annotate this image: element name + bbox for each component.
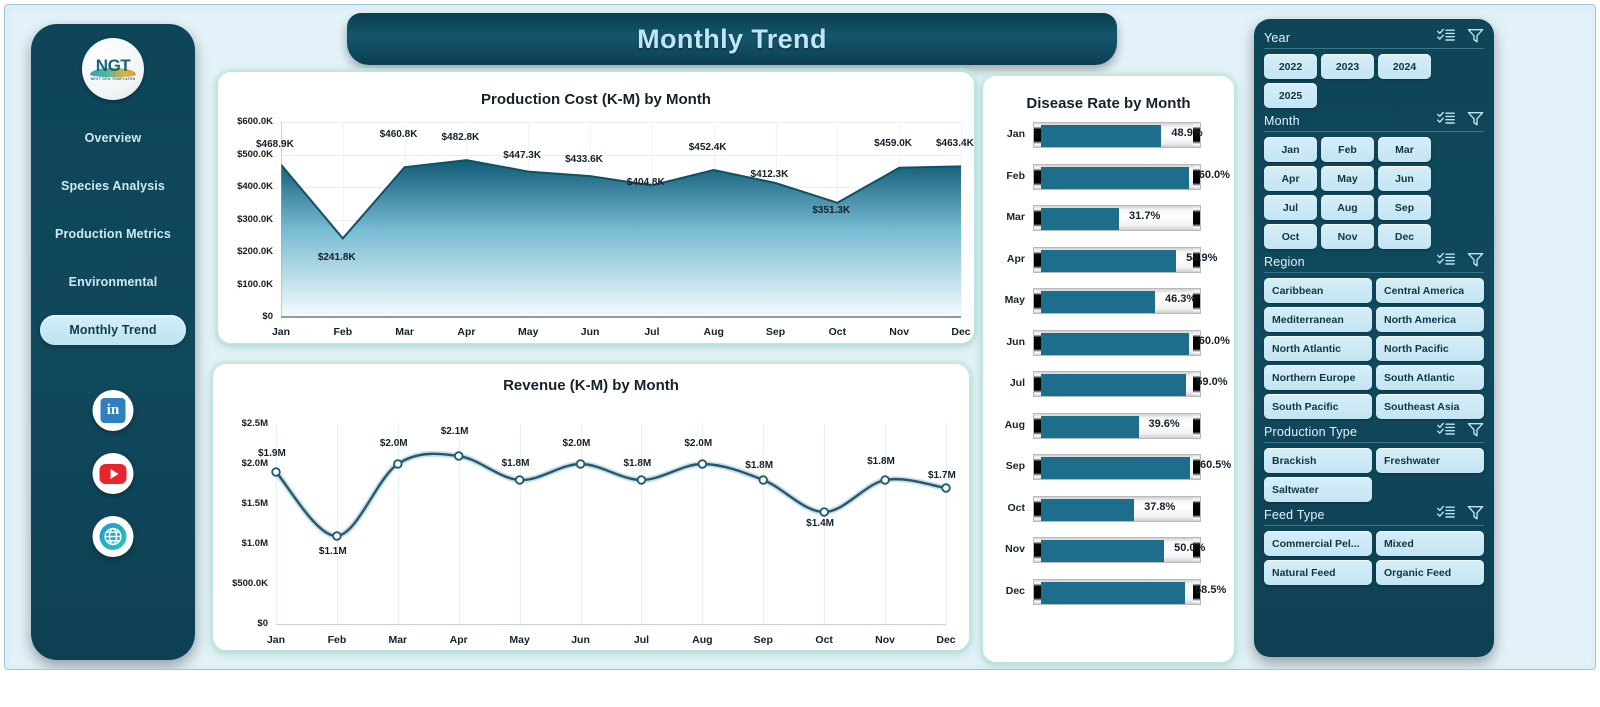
sidebar-item-label: Species Analysis — [61, 179, 165, 193]
disease-rate-row[interactable]: Feb60.0% — [983, 162, 1234, 192]
sidebar-item-environmental[interactable]: Environmental — [40, 267, 186, 297]
filter-header-icons — [1437, 28, 1484, 48]
bar-fill — [1041, 125, 1161, 147]
filter-option-caribbean[interactable]: Caribbean — [1264, 278, 1372, 303]
bar-cap-left — [1034, 123, 1041, 147]
filter-option-apr[interactable]: Apr — [1264, 166, 1317, 191]
filter-option-saltwater[interactable]: Saltwater — [1264, 477, 1372, 502]
bar-fill — [1041, 208, 1119, 230]
x-axis-tick: Feb — [317, 326, 369, 338]
filter-options: 2022202320242025 — [1264, 54, 1484, 108]
disease-rate-row[interactable]: Jan48.9% — [983, 120, 1234, 150]
data-label: $1.8M — [502, 458, 530, 469]
filter-option-north-atlantic[interactable]: North Atlantic — [1264, 336, 1372, 361]
filter-options: Commercial Pel...MixedNatural FeedOrgani… — [1264, 531, 1484, 585]
bar-fill — [1041, 416, 1139, 438]
bar-category-label: Aug — [991, 419, 1025, 431]
multi-select-icon[interactable] — [1437, 505, 1455, 525]
y-axis-tick: $0 — [213, 618, 268, 629]
disease-rate-title: Disease Rate by Month — [983, 95, 1234, 112]
production-cost-card: Production Cost (K-M) by Month $0$100.0K… — [217, 71, 975, 344]
y-axis-tick: $200.0K — [218, 246, 273, 257]
y-axis-tick: $1.0M — [213, 538, 268, 549]
y-axis-tick: $2.5M — [213, 418, 268, 429]
filter-option-south-pacific[interactable]: South Pacific — [1264, 394, 1372, 419]
disease-rate-chart[interactable]: Jan48.9%Feb60.0%Mar31.7%Apr54.9%May46.3%… — [983, 120, 1234, 654]
filter-group-region: RegionCaribbeanCentral AmericaMediterran… — [1264, 251, 1484, 419]
data-label: $468.9K — [256, 139, 294, 150]
data-label: $351.3K — [812, 205, 850, 216]
y-axis-tick: $600.0K — [218, 116, 273, 127]
sidebar-item-label: Environmental — [69, 275, 158, 289]
filter-group-header: Month — [1264, 110, 1484, 132]
data-label: $1.9M — [258, 448, 286, 459]
data-label: $1.7M — [928, 470, 956, 481]
sidebar-item-label: Monthly Trend — [69, 323, 156, 337]
bar-value-label: 60.0% — [1199, 335, 1230, 347]
bar-fill — [1041, 540, 1164, 562]
youtube-glyph — [100, 464, 127, 484]
x-axis-tick: May — [494, 634, 546, 646]
bar-category-label: Dec — [991, 585, 1025, 597]
bar-fill — [1041, 291, 1155, 313]
filter-group-feed-type: Feed TypeCommercial Pel...MixedNatural F… — [1264, 504, 1484, 585]
filter-funnel-icon[interactable] — [1467, 28, 1484, 48]
logo-text: NGT — [96, 57, 130, 74]
data-label: $2.0M — [380, 438, 408, 449]
x-axis-tick: Nov — [859, 634, 911, 646]
data-label: $241.8K — [318, 252, 356, 263]
filter-option-southeast-asia[interactable]: Southeast Asia — [1376, 394, 1484, 419]
filter-group-label: Year — [1264, 31, 1290, 45]
bar-value-label: 37.8% — [1144, 501, 1175, 513]
x-axis-tick: Sep — [750, 326, 802, 338]
data-label: $452.4K — [689, 142, 727, 153]
y-axis-tick: $500.0K — [213, 578, 268, 589]
x-axis-tick: Jun — [555, 634, 607, 646]
filter-header-icons — [1437, 422, 1484, 442]
filter-option-2025[interactable]: 2025 — [1264, 83, 1317, 108]
disease-rate-row[interactable]: Apr54.9% — [983, 245, 1234, 275]
bar-cap-right — [1193, 497, 1200, 521]
linkedin-icon[interactable]: in — [93, 390, 134, 431]
bar-fill — [1041, 374, 1186, 396]
youtube-icon[interactable] — [93, 453, 134, 494]
x-axis-tick: Oct — [798, 634, 850, 646]
sidebar-item-species-analysis[interactable]: Species Analysis — [40, 171, 186, 201]
bar-cap-right — [1193, 455, 1200, 479]
bar-fill — [1041, 250, 1176, 272]
x-axis-tick: Jul — [615, 634, 667, 646]
x-axis-tick: Sep — [737, 634, 789, 646]
data-label: $1.8M — [745, 460, 773, 471]
bar-cap-left — [1034, 206, 1041, 230]
bar-track — [1033, 496, 1201, 522]
bar-category-label: Nov — [991, 543, 1025, 555]
filter-option-jul[interactable]: Jul — [1264, 195, 1317, 220]
filter-option-dec[interactable]: Dec — [1378, 224, 1431, 249]
disease-rate-row[interactable]: Oct37.8% — [983, 494, 1234, 524]
filter-group-production-type: Production TypeBrackishFreshwaterSaltwat… — [1264, 421, 1484, 502]
bar-fill — [1041, 333, 1189, 355]
sidebar-item-monthly-trend[interactable]: Monthly Trend — [40, 315, 186, 345]
data-label: $2.1M — [441, 426, 469, 437]
bar-track — [1033, 371, 1201, 397]
production-cost-area — [281, 122, 967, 323]
filter-option-aug[interactable]: Aug — [1321, 195, 1374, 220]
filter-option-north-america[interactable]: North America — [1376, 307, 1484, 332]
bar-category-label: Jul — [991, 377, 1025, 389]
logo-subtext: NEXT GEN TEMPLATES — [91, 77, 136, 81]
data-label: $447.3K — [503, 150, 541, 161]
bar-cap-left — [1034, 455, 1041, 479]
x-axis-tick: Mar — [379, 326, 431, 338]
revenue-chart[interactable]: $0$500.0K$1.0M$1.5M$2.0M$2.5M$1.9M$1.1M$… — [213, 364, 969, 650]
x-axis-tick: Nov — [873, 326, 925, 338]
filter-funnel-icon[interactable] — [1467, 422, 1484, 442]
bar-cap-left — [1034, 497, 1041, 521]
bar-value-label: 46.3% — [1165, 293, 1196, 305]
multi-select-icon[interactable] — [1437, 111, 1455, 131]
data-label: $1.1M — [319, 546, 347, 557]
disease-rate-row[interactable]: Jun60.0% — [983, 328, 1234, 358]
disease-rate-row[interactable]: Nov50.0% — [983, 535, 1234, 565]
filter-option-sep[interactable]: Sep — [1378, 195, 1431, 220]
disease-rate-row[interactable]: Jul59.0% — [983, 369, 1234, 399]
bar-cap-left — [1034, 165, 1041, 189]
x-axis-tick: Jul — [626, 326, 678, 338]
data-label: $1.8M — [867, 456, 895, 467]
bar-cap-left — [1034, 248, 1041, 272]
filter-option-brackish[interactable]: Brackish — [1264, 448, 1372, 473]
x-axis-tick: Apr — [433, 634, 485, 646]
bar-cap-left — [1034, 372, 1041, 396]
bar-category-label: May — [991, 294, 1025, 306]
filter-option-nov[interactable]: Nov — [1321, 224, 1374, 249]
bar-value-label: 31.7% — [1129, 210, 1160, 222]
x-axis-tick: Aug — [688, 326, 740, 338]
bar-value-label: 39.6% — [1149, 418, 1180, 430]
filter-header-icons — [1437, 505, 1484, 525]
filter-group-header: Feed Type — [1264, 504, 1484, 526]
filter-options: BrackishFreshwaterSaltwater — [1264, 448, 1484, 502]
bar-cap-left — [1034, 580, 1041, 604]
x-axis-tick: Jan — [250, 634, 302, 646]
filter-group-label: Feed Type — [1264, 508, 1325, 522]
y-axis-tick: $2.0M — [213, 458, 268, 469]
data-label: $482.8K — [441, 132, 479, 143]
dashboard-canvas: NGT NEXT GEN TEMPLATES OverviewSpecies A… — [4, 4, 1596, 670]
x-axis-tick: Oct — [811, 326, 863, 338]
filter-option-may[interactable]: May — [1321, 166, 1374, 191]
linkedin-glyph: in — [101, 398, 126, 423]
filter-option-jun[interactable]: Jun — [1378, 166, 1431, 191]
disease-rate-row[interactable]: Sep60.5% — [983, 452, 1234, 482]
bar-track — [1033, 164, 1201, 190]
production-cost-chart[interactable]: $0$100.0K$200.0K$300.0K$400.0K$500.0K$60… — [218, 72, 974, 343]
bar-fill — [1041, 499, 1134, 521]
filter-option-jan[interactable]: Jan — [1264, 137, 1317, 162]
filter-funnel-icon[interactable] — [1467, 505, 1484, 525]
bar-cap-right — [1193, 206, 1200, 230]
disease-rate-row[interactable]: Dec58.5% — [983, 577, 1234, 607]
bar-cap-left — [1034, 331, 1041, 355]
x-axis-tick: Dec — [920, 634, 972, 646]
app-logo: NGT NEXT GEN TEMPLATES — [82, 38, 144, 100]
x-axis-tick: Feb — [311, 634, 363, 646]
filter-panel: Year2022202320242025MonthJanFebMarAprMay… — [1254, 19, 1494, 657]
bar-category-label: Mar — [991, 211, 1025, 223]
sidebar-item-label: Production Metrics — [55, 227, 171, 241]
bar-cap-right — [1193, 414, 1200, 438]
filter-option-natural-feed[interactable]: Natural Feed — [1264, 560, 1372, 585]
filter-option-2024[interactable]: 2024 — [1378, 54, 1431, 79]
filter-group-header: Production Type — [1264, 421, 1484, 443]
revenue-line — [271, 424, 951, 634]
bar-cap-left — [1034, 538, 1041, 562]
filter-option-2023[interactable]: 2023 — [1321, 54, 1374, 79]
filter-funnel-icon[interactable] — [1467, 111, 1484, 131]
bar-value-label: 60.5% — [1200, 459, 1231, 471]
y-axis-tick: $400.0K — [218, 181, 273, 192]
filter-options: JanFebMarAprMayJunJulAugSepOctNovDec — [1264, 137, 1484, 249]
filter-option-commercial-pel[interactable]: Commercial Pel... — [1264, 531, 1372, 556]
y-axis-tick: $300.0K — [218, 214, 273, 225]
bar-cap-left — [1034, 289, 1041, 313]
filter-group-year: Year2022202320242025 — [1264, 27, 1484, 108]
bar-value-label: 58.5% — [1195, 584, 1226, 596]
bar-category-label: Oct — [991, 502, 1025, 514]
filter-option-organic-feed[interactable]: Organic Feed — [1376, 560, 1484, 585]
y-axis-tick: $500.0K — [218, 149, 273, 160]
bar-fill — [1041, 457, 1190, 479]
bar-category-label: Feb — [991, 170, 1025, 182]
x-axis-tick: Jun — [564, 326, 616, 338]
y-axis-tick: $1.5M — [213, 498, 268, 509]
filter-option-south-atlantic[interactable]: South Atlantic — [1376, 365, 1484, 390]
filter-group-header: Region — [1264, 251, 1484, 273]
data-label: $463.4K — [936, 138, 974, 149]
data-label: $2.0M — [563, 438, 591, 449]
filter-option-mediterranean[interactable]: Mediterranean — [1264, 307, 1372, 332]
filter-option-feb[interactable]: Feb — [1321, 137, 1374, 162]
bar-category-label: Jan — [991, 128, 1025, 140]
sidebar-item-production-metrics[interactable]: Production Metrics — [40, 219, 186, 249]
data-label: $459.0K — [874, 138, 912, 149]
play-triangle — [110, 469, 118, 479]
data-label: $460.8K — [380, 129, 418, 140]
bar-value-label: 60.0% — [1199, 169, 1230, 181]
sidebar-item-overview[interactable]: Overview — [40, 123, 186, 153]
x-axis-tick: Aug — [676, 634, 728, 646]
bar-track — [1033, 205, 1201, 231]
x-axis-tick: May — [502, 326, 554, 338]
filter-group-month: MonthJanFebMarAprMayJunJulAugSepOctNovDe… — [1264, 110, 1484, 249]
bar-track — [1033, 247, 1201, 273]
sidebar-item-label: Overview — [85, 131, 142, 145]
page-title: Monthly Trend — [637, 24, 827, 55]
x-axis-tick: Apr — [440, 326, 492, 338]
y-axis-tick: $100.0K — [218, 279, 273, 290]
bar-value-label: 54.9% — [1186, 252, 1217, 264]
data-label: $1.4M — [806, 518, 834, 529]
filter-group-header: Year — [1264, 27, 1484, 49]
website-globe-icon[interactable] — [93, 516, 134, 557]
filter-group-label: Production Type — [1264, 425, 1357, 439]
filter-option-north-pacific[interactable]: North Pacific — [1376, 336, 1484, 361]
filter-header-icons — [1437, 252, 1484, 272]
data-label: $412.3K — [751, 169, 789, 180]
bar-category-label: Sep — [991, 460, 1025, 472]
data-label: $2.0M — [684, 438, 712, 449]
filter-option-mar[interactable]: Mar — [1378, 137, 1431, 162]
disease-rate-row[interactable]: Mar31.7% — [983, 203, 1234, 233]
bar-track — [1033, 330, 1201, 356]
multi-select-icon[interactable] — [1437, 28, 1455, 48]
filter-groups: Year2022202320242025MonthJanFebMarAprMay… — [1264, 27, 1484, 585]
sidebar: NGT NEXT GEN TEMPLATES OverviewSpecies A… — [31, 24, 195, 660]
bar-cap-left — [1034, 414, 1041, 438]
y-axis-tick: $0 — [218, 311, 273, 322]
bar-fill — [1041, 582, 1185, 604]
filter-group-label: Month — [1264, 114, 1300, 128]
page-header: Monthly Trend — [347, 13, 1117, 65]
bar-value-label: 50.0% — [1174, 542, 1205, 554]
filter-option-central-america[interactable]: Central America — [1376, 278, 1484, 303]
bar-category-label: Apr — [991, 253, 1025, 265]
x-axis-tick: Dec — [935, 326, 987, 338]
bar-fill — [1041, 167, 1189, 189]
filter-options: CaribbeanCentral AmericaMediterraneanNor… — [1264, 278, 1484, 419]
filter-option-oct[interactable]: Oct — [1264, 224, 1317, 249]
disease-rate-card: Disease Rate by Month Jan48.9%Feb60.0%Ma… — [982, 75, 1235, 663]
bar-category-label: Jun — [991, 336, 1025, 348]
x-axis-tick: Mar — [372, 634, 424, 646]
filter-option-mixed[interactable]: Mixed — [1376, 531, 1484, 556]
disease-rate-row[interactable]: May46.3% — [983, 286, 1234, 316]
bar-track — [1033, 579, 1201, 605]
disease-rate-row[interactable]: Aug39.6% — [983, 411, 1234, 441]
data-label: $404.8K — [627, 177, 665, 188]
filter-header-icons — [1437, 111, 1484, 131]
bar-value-label: 59.0% — [1196, 376, 1227, 388]
dashboard-page: NGT NEXT GEN TEMPLATES OverviewSpecies A… — [0, 0, 1600, 707]
filter-funnel-icon[interactable] — [1467, 252, 1484, 272]
filter-option-northern-europe[interactable]: Northern Europe — [1264, 365, 1372, 390]
revenue-card: Revenue (K-M) by Month $0$500.0K$1.0M$1.… — [212, 363, 970, 651]
multi-select-icon[interactable] — [1437, 252, 1455, 272]
filter-option-freshwater[interactable]: Freshwater — [1376, 448, 1484, 473]
bar-track — [1033, 454, 1201, 480]
x-axis-tick: Jan — [255, 326, 307, 338]
filter-group-label: Region — [1264, 255, 1305, 269]
filter-option-2022[interactable]: 2022 — [1264, 54, 1317, 79]
globe-glyph — [100, 523, 127, 550]
multi-select-icon[interactable] — [1437, 422, 1455, 442]
data-label: $433.6K — [565, 154, 603, 165]
data-label: $1.8M — [623, 458, 651, 469]
bar-value-label: 48.9% — [1171, 127, 1202, 139]
